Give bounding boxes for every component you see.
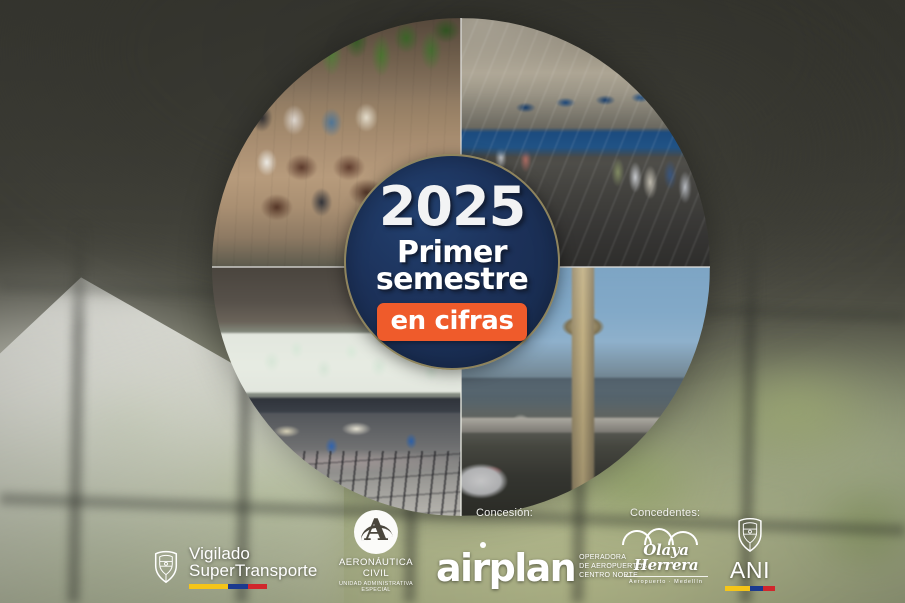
logo-aeronautica-civil: A AERONÁUTICA CIVIL UNIDAD ADMINISTRATIV… [330,510,422,593]
logo-ani: ANI [718,517,782,591]
ani-wordmark: ANI [718,559,782,582]
olaya-herrera-sub: Aeropuerto · Medellín [618,579,714,585]
badge-subtitle: Primer semestre [376,238,528,295]
badge-subtitle-line2: semestre [376,265,528,295]
olaya-divider [624,576,708,577]
olaya-herrera-arcs-icon [618,529,714,545]
airplan-dot-icon [480,542,486,548]
badge-chip-en-cifras: en cifras [377,303,526,341]
flag-stripe-yellow [189,584,228,589]
flag-stripe-red [763,586,776,591]
airplan-wordmark-text: airplan [436,546,575,590]
olaya-arc-3 [668,531,698,545]
title-badge: 2025 Primer semestre en cifras [344,154,560,370]
footer-logo-strip: Concesión: Concedentes: Vigilado SuperTr… [0,487,905,603]
colombia-coat-of-arms-icon [152,550,180,584]
colombia-flag-bar [725,586,775,591]
flag-stripe-yellow [725,586,750,591]
flag-stripe-blue [228,584,248,589]
concedentes-label: Concedentes: [630,507,700,519]
vigilado-line1: Vigilado [189,545,317,563]
colombia-coat-of-arms-icon [735,517,765,553]
flag-stripe-red [248,584,268,589]
airplan-wordmark: airplan [436,551,575,585]
aeronautica-line2: UNIDAD ADMINISTRATIVA ESPECIAL [330,581,422,593]
badge-year: 2025 [379,181,525,233]
olaya-herrera-name: Olaya Herrera [618,543,714,573]
colombia-flag-bar [189,584,267,589]
logo-vigilado-supertransporte: Vigilado SuperTransporte [152,545,317,589]
logo-airplan: airplan OPERADORA DE AEROPUERTOS CENTRO … [436,551,647,585]
aeronautica-line1: AERONÁUTICA CIVIL [330,558,422,580]
vigilado-line2: SuperTransporte [189,562,317,580]
aeronautica-civil-disc-icon: A [354,510,398,554]
logo-olaya-herrera: Olaya Herrera Aeropuerto · Medellín [618,529,714,585]
flag-stripe-blue [750,586,763,591]
concesion-label: Concesión: [476,507,533,519]
